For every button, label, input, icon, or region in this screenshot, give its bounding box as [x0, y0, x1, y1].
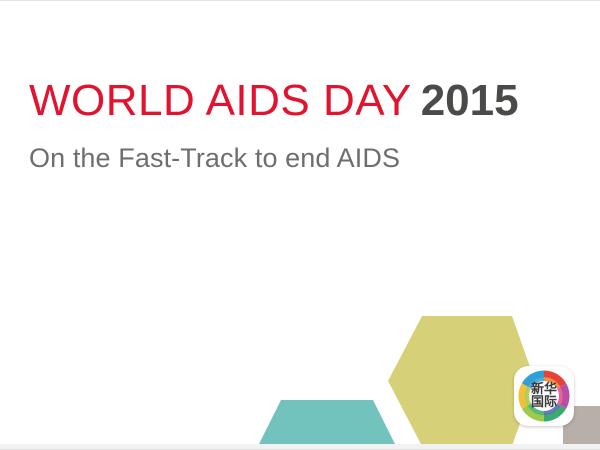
decorative-shapes-group	[0, 1, 600, 450]
teal-trapezoid	[258, 400, 396, 446]
olive-hexagon	[388, 316, 535, 446]
main-title-text: WORLD AIDS DAY	[29, 76, 412, 125]
watermark-logo: 新华 国际	[514, 366, 574, 426]
world-aids-day-poster: WORLD AIDS DAY2015 On the Fast-Track to …	[0, 0, 600, 450]
logo-badge: 新华 国际	[514, 366, 574, 426]
page-title: WORLD AIDS DAY2015	[29, 79, 519, 123]
subtitle-text: On the Fast-Track to end AIDS	[29, 145, 400, 172]
logo-chinese-text: 新华 国际	[514, 366, 574, 426]
year-text: 2015	[421, 76, 519, 125]
logo-line-2: 国际	[531, 396, 557, 409]
footer-strip	[0, 444, 600, 449]
